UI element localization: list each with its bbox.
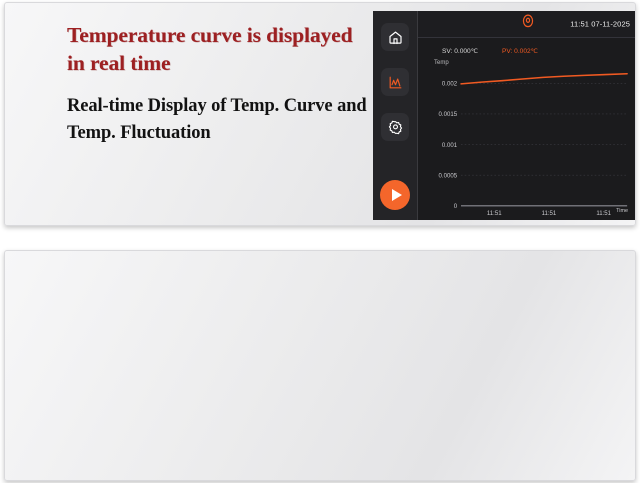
device-top-screen: 11:51 07-11-2025 SV: 0.000℃ PV: 0.002℃ T… bbox=[417, 11, 636, 220]
chart-y-ticks: 0.002 0.0015 0.001 0.0005 0 bbox=[439, 80, 458, 210]
chart-x-axis-title: Time bbox=[616, 208, 628, 214]
device-top-sidebar bbox=[373, 11, 417, 220]
svg-text:0.001: 0.001 bbox=[442, 142, 458, 149]
svg-text:0.002: 0.002 bbox=[442, 80, 458, 87]
sidebar-item-home[interactable] bbox=[381, 23, 409, 51]
pv-readout: PV: 0.002℃ bbox=[502, 48, 538, 55]
svg-text:11:51: 11:51 bbox=[542, 210, 557, 216]
top-text-block: Temperature curve is displayed in real t… bbox=[67, 21, 367, 146]
sv-pv-row: SV: 0.000℃ PV: 0.002℃ bbox=[442, 47, 538, 55]
play-icon bbox=[392, 189, 402, 201]
top-feature-card: Temperature curve is displayed in real t… bbox=[4, 2, 636, 226]
top-subcopy: Real-time Display of Temp. Curve and Tem… bbox=[67, 93, 367, 146]
sidebar-item-chart[interactable] bbox=[381, 68, 409, 96]
svg-text:0.0015: 0.0015 bbox=[439, 111, 458, 118]
device-top-header: 11:51 07-11-2025 bbox=[418, 11, 636, 38]
gear-icon bbox=[388, 120, 403, 135]
svg-text:0.0005: 0.0005 bbox=[439, 172, 458, 179]
target-indicator-icon bbox=[520, 13, 535, 35]
top-headline: Temperature curve is displayed in real t… bbox=[67, 21, 367, 77]
svg-text:11:51: 11:51 bbox=[487, 210, 502, 216]
chart-series-pv bbox=[461, 74, 627, 84]
chart-gridlines bbox=[461, 83, 627, 175]
chart-y-axis-title: Temp bbox=[434, 60, 449, 66]
temperature-chart[interactable]: 0.002 0.0015 0.001 0.0005 0 11:51 11:51 bbox=[418, 67, 633, 216]
chart-icon bbox=[388, 75, 403, 90]
sidebar-item-settings[interactable] bbox=[381, 113, 409, 141]
header-timestamp: 11:51 07-11-2025 bbox=[570, 20, 630, 29]
svg-text:0: 0 bbox=[454, 203, 458, 210]
start-button[interactable] bbox=[380, 180, 410, 210]
chart-x-ticks: 11:51 11:51 11:51 bbox=[487, 210, 612, 216]
device-screen-chart: 11:51 07-11-2025 SV: 0.000℃ PV: 0.002℃ T… bbox=[373, 11, 636, 220]
chart-svg: 0.002 0.0015 0.001 0.0005 0 11:51 11:51 bbox=[418, 67, 633, 216]
svg-text:11:51: 11:51 bbox=[596, 210, 611, 216]
sv-readout: SV: 0.000℃ bbox=[442, 48, 478, 55]
bottom-feature-card: 18:52 2025-10-25 40.000 ℃ bbox=[4, 250, 636, 481]
home-icon bbox=[388, 30, 403, 45]
